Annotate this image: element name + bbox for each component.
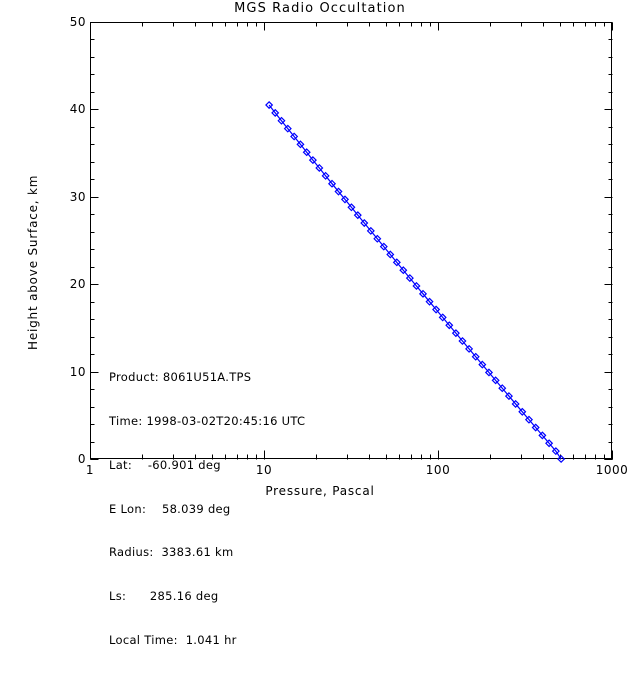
annotation-elon: E Lon: 58.039 deg <box>109 502 305 517</box>
annotation-time: Time: 1998-03-02T20:45:16 UTC <box>109 414 305 429</box>
y-tick-label: 30 <box>48 190 86 204</box>
y-tick-label: 0 <box>48 452 86 466</box>
y-tick-label: 50 <box>48 15 86 29</box>
y-tick-label: 10 <box>48 365 86 379</box>
y-tick-label: 40 <box>48 102 86 116</box>
data-series-height-vs-pressure <box>266 102 564 462</box>
annotation-local-time: Local Time: 1.041 hr <box>109 633 305 648</box>
y-tick-label: 20 <box>48 277 86 291</box>
x-tick-label: 1000 <box>577 463 640 477</box>
y-axis-label: Height above Surface, km <box>26 175 40 350</box>
annotation-radius: Radius: 3383.61 km <box>109 545 305 560</box>
annotation-block: Product: 8061U51A.TPS Time: 1998-03-02T2… <box>109 341 305 677</box>
annotation-lat: Lat: -60.901 deg <box>109 458 305 473</box>
x-tick-label: 100 <box>403 463 473 477</box>
plot-canvas <box>0 0 640 512</box>
x-axis-label: Pressure, Pascal <box>0 484 640 498</box>
annotation-product: Product: 8061U51A.TPS <box>109 370 305 385</box>
annotation-ls: Ls: 285.16 deg <box>109 589 305 604</box>
plot-root: MGS Radio Occultation 1101001000 0102030… <box>0 0 640 512</box>
